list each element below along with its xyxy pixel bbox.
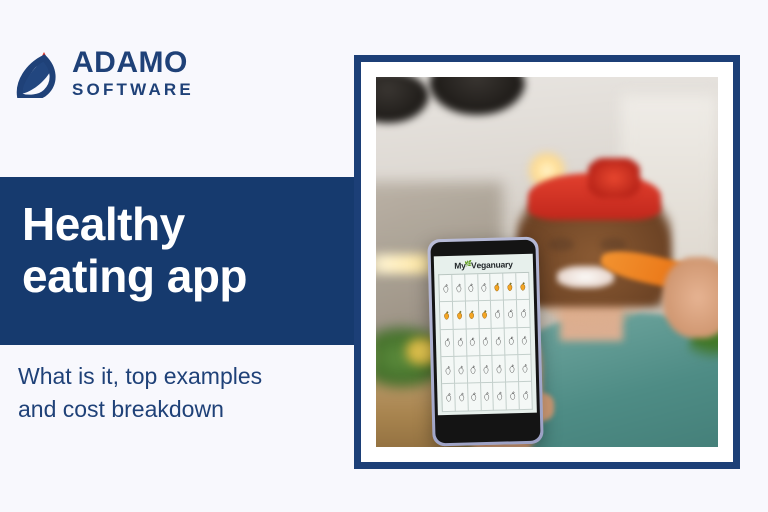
apple-outline-icon: [494, 332, 503, 351]
calendar-day-cell[interactable]: [505, 328, 519, 356]
veganuary-app[interactable]: My 🌿 V eganuary: [434, 254, 537, 415]
page-subtitle-line-2: and cost breakdown: [18, 393, 348, 426]
calendar-day-cell[interactable]: [443, 384, 457, 412]
apple-outline-icon: [508, 359, 517, 378]
calendar-day-cell[interactable]: [518, 300, 532, 328]
calendar-day-cell[interactable]: [481, 383, 495, 411]
apple-outline-icon: [521, 359, 530, 378]
page-title: Healthy eating app: [22, 199, 352, 302]
person-smile: [557, 266, 615, 288]
apple-outline-icon: [443, 333, 452, 352]
apple-filled-icon: [481, 305, 490, 324]
apple-outline-icon: [469, 360, 478, 379]
apple-outline-icon: [457, 388, 466, 407]
calendar-day-cell[interactable]: [466, 302, 480, 330]
headline-band: Healthy eating app: [0, 177, 367, 345]
calendar-day-cell[interactable]: [493, 356, 507, 384]
calendar-day-cell[interactable]: [442, 357, 456, 385]
calendar-day-cell[interactable]: [494, 383, 508, 411]
brand-wordmark: ADAMO SOFTWARE: [72, 46, 194, 98]
adamo-swoosh-logo-icon: [14, 46, 62, 98]
page-title-line-1: Healthy: [22, 199, 352, 251]
apple-outline-icon: [483, 387, 492, 406]
page-subtitle: What is it, top examples and cost breakd…: [18, 360, 348, 425]
person-hand-right: [663, 257, 718, 338]
calendar-day-cell[interactable]: [492, 301, 506, 329]
apple-outline-icon: [444, 388, 453, 407]
apple-outline-icon: [520, 331, 529, 350]
apple-outline-icon: [467, 278, 476, 297]
calendar-day-cell[interactable]: [455, 357, 469, 385]
person-eye-left: [548, 238, 574, 250]
apple-outline-icon: [470, 387, 479, 406]
apple-outline-icon: [494, 305, 503, 324]
brand-name-primary: ADAMO: [72, 48, 194, 78]
phone-screen[interactable]: My 🌿 V eganuary: [431, 240, 541, 444]
app-title-suffix: eganuary: [477, 259, 513, 270]
apple-outline-icon: [506, 304, 515, 323]
page-title-line-2: eating app: [22, 251, 352, 303]
apple-outline-icon: [454, 278, 463, 297]
page-subtitle-line-1: What is it, top examples: [18, 360, 348, 393]
calendar-day-cell[interactable]: [504, 273, 518, 301]
calendar-day-cell[interactable]: [478, 274, 492, 302]
calendar-day-cell[interactable]: [480, 356, 494, 384]
hero-photo-frame: My 🌿 V eganuary: [354, 55, 740, 469]
brand-logo[interactable]: ADAMO SOFTWARE: [14, 46, 194, 98]
apple-filled-icon: [455, 306, 464, 325]
veganuary-progress-grid[interactable]: [439, 272, 534, 412]
marketing-banner: ADAMO SOFTWARE Healthy eating app What i…: [0, 0, 768, 512]
apple-outline-icon: [519, 304, 528, 323]
person-eye-right: [600, 238, 626, 250]
apple-outline-icon: [444, 361, 453, 380]
calendar-day-cell[interactable]: [453, 302, 467, 330]
apple-filled-icon: [468, 305, 477, 324]
calendar-day-cell[interactable]: [505, 301, 519, 329]
apple-outline-icon: [509, 386, 518, 405]
headband-knot: [588, 158, 640, 198]
apple-filled-icon: [519, 277, 528, 296]
apple-outline-icon: [456, 333, 465, 352]
apple-filled-icon: [442, 306, 451, 325]
brand-name-secondary: SOFTWARE: [72, 81, 194, 98]
photo-scene: My 🌿 V eganuary: [376, 77, 718, 447]
apple-outline-icon: [496, 387, 505, 406]
calendar-day-cell[interactable]: [519, 355, 533, 383]
hero-photo: My 🌿 V eganuary: [376, 77, 718, 447]
apple-outline-icon: [481, 332, 490, 351]
calendar-day-cell[interactable]: [465, 274, 479, 302]
apple-outline-icon: [480, 278, 489, 297]
apple-outline-icon: [507, 332, 516, 351]
calendar-day-cell[interactable]: [517, 273, 531, 301]
apple-outline-icon: [495, 359, 504, 378]
apple-outline-icon: [482, 360, 491, 379]
app-title: My 🌿 V eganuary: [438, 259, 529, 271]
calendar-day-cell[interactable]: [493, 328, 507, 356]
calendar-day-cell[interactable]: [518, 328, 532, 356]
apple-outline-icon: [469, 333, 478, 352]
calendar-day-cell[interactable]: [454, 329, 468, 357]
calendar-day-cell[interactable]: [520, 382, 534, 410]
apple-outline-icon: [521, 386, 530, 405]
apple-outline-icon: [456, 360, 465, 379]
apple-filled-icon: [506, 277, 515, 296]
apple-outline-icon: [441, 279, 450, 298]
apple-filled-icon: [493, 277, 502, 296]
smartphone-device[interactable]: My 🌿 V eganuary: [428, 237, 544, 447]
